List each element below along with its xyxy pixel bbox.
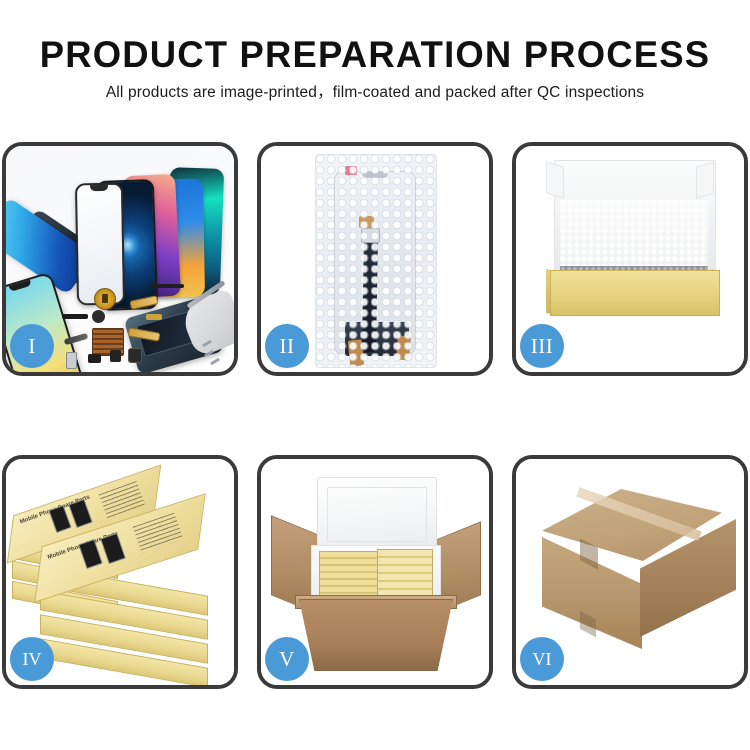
box-lid-flap-right-icon bbox=[696, 161, 714, 198]
part-button-2-icon bbox=[110, 350, 121, 362]
process-step-2: II bbox=[257, 142, 493, 376]
bubble-texture-icon bbox=[316, 155, 436, 367]
yellow-boxes-stack-2-icon bbox=[377, 549, 433, 597]
kraft-box-base-icon bbox=[550, 270, 720, 316]
part-speaker-icon bbox=[62, 314, 88, 319]
process-step-4: Mobile Phone Spare Parts Mobile Phone Sp… bbox=[2, 455, 238, 689]
step-badge-5: V bbox=[265, 637, 309, 681]
part-camera-icon bbox=[128, 348, 142, 363]
part-strip-icon bbox=[150, 284, 184, 288]
process-step-1: I bbox=[2, 142, 238, 376]
styrofoam-lid-icon bbox=[317, 477, 437, 553]
process-step-3: III bbox=[512, 142, 748, 376]
process-step-6: VI bbox=[512, 455, 748, 689]
part-connector-icon bbox=[146, 314, 162, 320]
part-vibration-motor-icon bbox=[92, 310, 105, 323]
process-steps-grid: I II bbox=[0, 142, 750, 689]
process-step-5: V bbox=[257, 455, 493, 689]
phone-front-glass-icon bbox=[75, 183, 125, 306]
carton-body-icon bbox=[299, 599, 453, 671]
step-badge-3: III bbox=[520, 324, 564, 368]
part-button-1-icon bbox=[88, 354, 101, 363]
step-badge-1: I bbox=[10, 324, 54, 368]
step-badge-4: IV bbox=[10, 637, 54, 681]
bubble-wrap-bag-icon bbox=[315, 154, 437, 368]
step-badge-6: VI bbox=[520, 637, 564, 681]
page-header: PRODUCT PREPARATION PROCESS All products… bbox=[0, 0, 750, 103]
foam-sheet-icon bbox=[560, 200, 708, 272]
box-lid-flap-left-icon bbox=[546, 161, 564, 198]
part-sim-tray-icon bbox=[66, 352, 77, 369]
page-title: PRODUCT PREPARATION PROCESS bbox=[6, 34, 745, 76]
part-coil-icon bbox=[94, 288, 116, 310]
step-badge-2: II bbox=[265, 324, 309, 368]
page-subtitle: All products are image-printed，film-coat… bbox=[0, 83, 750, 103]
